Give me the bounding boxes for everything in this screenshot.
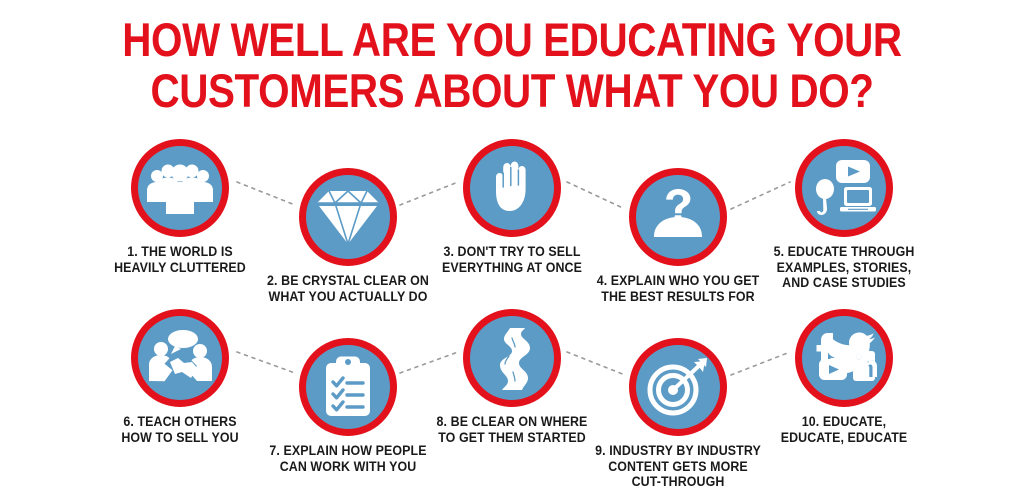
step-3-circle [463,139,561,237]
step-node-2[interactable]: 2. BE CRYSTAL CLEAR ON WHAT YOU ACTUALLY… [253,168,443,304]
step-node-6[interactable]: 6. TEACH OTHERS HOW TO SELL YOU [85,309,275,445]
step-4-circle [629,168,727,266]
clipboard-checklist-icon [322,356,374,418]
diamond-icon [315,188,381,246]
video-microphone-laptop-icon [810,157,878,219]
step-5-circle [795,139,893,237]
raised-hand-stop-icon [486,157,538,219]
step-6-circle [131,309,229,407]
social-media-icons [811,329,877,387]
step-7-label: 7. EXPLAIN HOW PEOPLE CAN WORK WITH YOU [261,443,436,474]
step-10-circle [795,309,893,407]
step-node-3[interactable]: 3. DON'T TRY TO SELL EVERYTHING AT ONCE [417,139,607,275]
page-title: HOW WELL ARE YOU EDUCATING YOUR CUSTOMER… [72,14,953,116]
crowd-of-people-icon [145,159,215,217]
person-question-mark-icon [647,187,709,247]
step-node-1[interactable]: 1. THE WORLD IS HEAVILY CLUTTERED [85,139,275,275]
step-6-label: 6. TEACH OTHERS HOW TO SELL YOU [93,414,268,445]
step-node-9[interactable]: 9. INDUSTRY BY INDUSTRY CONTENT GETS MOR… [583,338,773,490]
step-1-label: 1. THE WORLD IS HEAVILY CLUTTERED [93,244,268,275]
step-1-circle [131,139,229,237]
step-9-label: 9. INDUSTRY BY INDUSTRY CONTENT GETS MOR… [591,443,766,490]
step-2-circle [299,168,397,266]
step-10-label: 10. EDUCATE, EDUCATE, EDUCATE [757,414,932,445]
step-3-label: 3. DON'T TRY TO SELL EVERYTHING AT ONCE [425,244,600,275]
handshake-speech-bubble-icon [147,329,213,387]
target-arrow-icon [646,357,710,417]
step-node-7[interactable]: 7. EXPLAIN HOW PEOPLE CAN WORK WITH YOU [253,338,443,474]
youtube-icon [819,359,847,380]
step-8-circle [463,309,561,407]
step-8-label: 8. BE CLEAR ON WHERE TO GET THEM STARTED [425,414,600,445]
step-2-label: 2. BE CRYSTAL CLEAR ON WHAT YOU ACTUALLY… [261,273,436,304]
step-node-10[interactable]: 10. EDUCATE, EDUCATE, EDUCATE [749,309,939,445]
step-node-8[interactable]: 8. BE CLEAR ON WHERE TO GET THEM STARTED [417,309,607,445]
step-7-circle [299,338,397,436]
step-5-label: 5. EDUCATE THROUGH EXAMPLES, STORIES, AN… [757,244,932,291]
step-node-4[interactable]: 4. EXPLAIN WHO YOU GET THE BEST RESULTS … [583,168,773,304]
step-9-circle [629,338,727,436]
step-node-5[interactable]: 5. EDUCATE THROUGH EXAMPLES, STORIES, AN… [749,139,939,291]
infographic-canvas: HOW WELL ARE YOU EDUCATING YOUR CUSTOMER… [0,0,1024,497]
winding-road-icon [486,326,538,390]
step-4-label: 4. EXPLAIN WHO YOU GET THE BEST RESULTS … [591,273,766,304]
